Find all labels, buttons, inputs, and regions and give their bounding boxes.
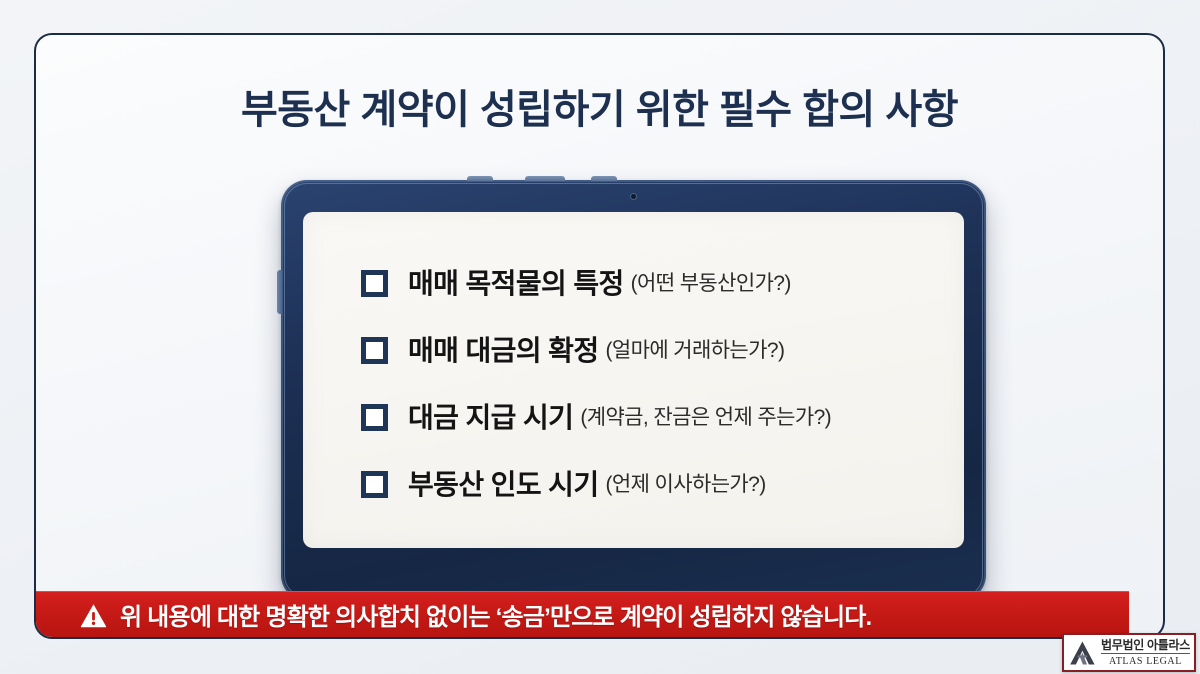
tablet-screen: 매매 목적물의 특정 (어떤 부동산인가?) 매매 대금의 확정 (얼마에 거래… — [303, 212, 964, 548]
list-item: 대금 지급 시기 (계약금, 잔금은 언제 주는가?) — [361, 396, 942, 436]
list-item-note: (얼마에 거래하는가?) — [605, 334, 784, 364]
warning-banner: 위 내용에 대한 명확한 의사합치 없이는 ‘송금’만으로 계약이 성립하지 않… — [36, 591, 1129, 637]
checklist: 매매 목적물의 특정 (어떤 부동산인가?) 매매 대금의 확정 (얼마에 거래… — [361, 262, 942, 503]
logo-name-en: ATLAS LEGAL — [1101, 654, 1190, 667]
tablet-device: 매매 목적물의 특정 (어떤 부동산인가?) 매매 대금의 확정 (얼마에 거래… — [281, 180, 986, 601]
checkbox-empty-icon[interactable] — [361, 471, 388, 498]
page-title: 부동산 계약이 성립하기 위한 필수 합의 사항 — [36, 77, 1163, 135]
logo-name-kr: 법무법인 아틀라스 — [1101, 639, 1190, 654]
list-item-label: 매매 대금의 확정 — [408, 329, 598, 369]
atlas-mountain-a-icon — [1069, 640, 1096, 666]
list-item: 매매 대금의 확정 (얼마에 거래하는가?) — [361, 329, 942, 369]
tablet-button-nub — [591, 176, 617, 181]
list-item-label: 매매 목적물의 특정 — [408, 262, 624, 302]
slide-frame: 부동산 계약이 성립하기 위한 필수 합의 사항 매매 목적물의 특정 (어떤 … — [34, 33, 1165, 639]
list-item: 부동산 인도 시기 (언제 이사하는가?) — [361, 463, 942, 503]
checkbox-empty-icon[interactable] — [361, 404, 388, 431]
list-item-note: (어떤 부동산인가?) — [631, 267, 791, 297]
camera-dot-icon — [631, 194, 636, 199]
tablet-button-nub — [525, 176, 565, 181]
list-item-note: (계약금, 잔금은 언제 주는가?) — [580, 401, 831, 431]
warning-triangle-icon — [80, 603, 107, 628]
list-item: 매매 목적물의 특정 (어떤 부동산인가?) — [361, 262, 942, 302]
slide: 부동산 계약이 성립하기 위한 필수 합의 사항 매매 목적물의 특정 (어떤 … — [0, 0, 1200, 674]
logo-text-group: 법무법인 아틀라스 ATLAS LEGAL — [1101, 639, 1190, 667]
tablet-side-button — [277, 270, 282, 314]
checkbox-empty-icon[interactable] — [361, 270, 388, 297]
list-item-note: (언제 이사하는가?) — [605, 468, 765, 498]
checkbox-empty-icon[interactable] — [361, 337, 388, 364]
tablet-button-nub — [467, 176, 493, 181]
list-item-label: 부동산 인도 시기 — [408, 463, 598, 503]
warning-banner-text: 위 내용에 대한 명확한 의사합치 없이는 ‘송금’만으로 계약이 성립하지 않… — [120, 597, 871, 632]
list-item-label: 대금 지급 시기 — [408, 396, 573, 436]
logo-badge: 법무법인 아틀라스 ATLAS LEGAL — [1062, 633, 1196, 672]
